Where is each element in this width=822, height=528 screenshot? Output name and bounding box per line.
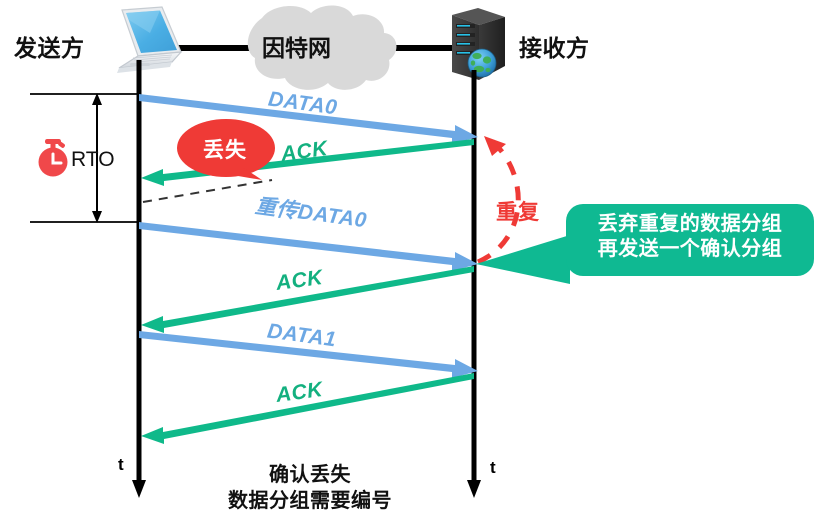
lost-annotation: 丢失 xyxy=(203,134,247,164)
caption-line-2: 数据分组需要编号 xyxy=(180,488,440,514)
laptop-icon xyxy=(117,7,181,73)
diagram-canvas: 发送方 接收方 因特网 RTO t t DATA0 ACK 重传DATA0 AC… xyxy=(0,0,822,528)
caption-line-1: 确认丢失 xyxy=(180,462,440,488)
sender-label: 发送方 xyxy=(14,29,85,63)
duplicate-annotation: 重复 xyxy=(496,196,540,226)
timeline-sender xyxy=(132,60,146,498)
diagram-graphics xyxy=(0,0,822,528)
callout-line-2: 再发送一个确认分组 xyxy=(572,237,808,262)
time-axis-label-receiver: t xyxy=(490,458,496,478)
server-icon xyxy=(452,8,505,80)
rto-label: RTO xyxy=(71,148,115,172)
stopwatch-icon xyxy=(39,139,68,177)
time-axis-label-sender: t xyxy=(118,455,124,475)
network-label: 因特网 xyxy=(262,29,331,63)
arrow-retransmit-data0 xyxy=(139,222,478,271)
callout-text-block: 丢弃重复的数据分组 再发送一个确认分组 xyxy=(572,212,808,262)
receiver-label: 接收方 xyxy=(519,29,590,63)
diagram-caption: 确认丢失 数据分组需要编号 xyxy=(180,462,440,514)
callout-line-1: 丢弃重复的数据分组 xyxy=(572,212,808,237)
